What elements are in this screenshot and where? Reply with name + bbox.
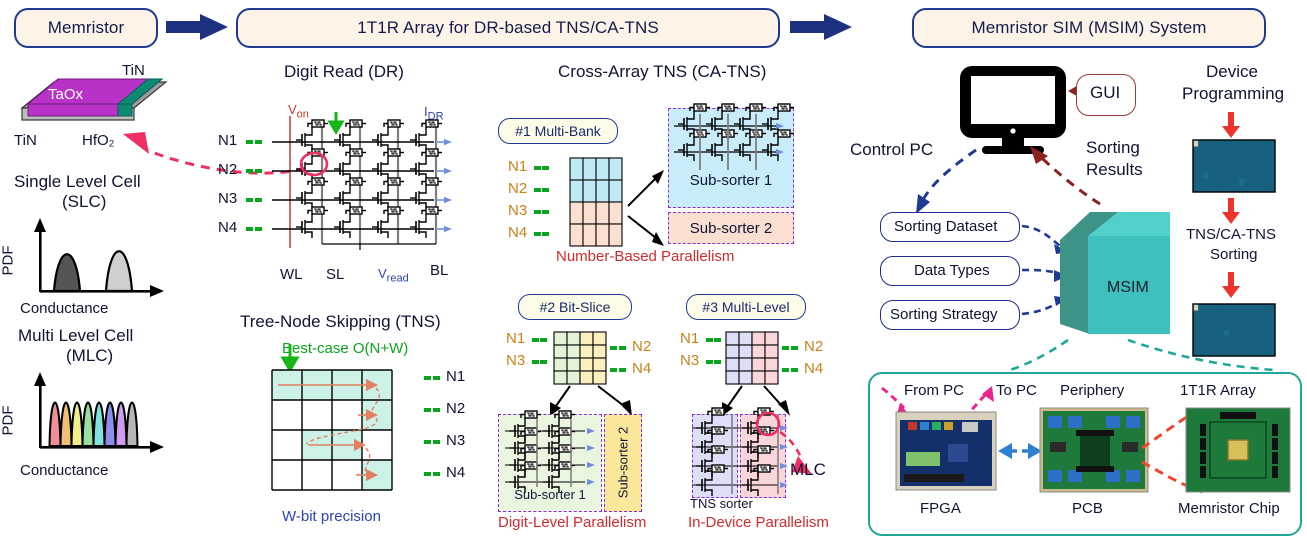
input-data-types-label: Data Types bbox=[914, 262, 990, 279]
ml-row-n4: N4 bbox=[804, 360, 823, 377]
svg-text:TaOx: TaOx bbox=[48, 86, 84, 103]
dash-marker bbox=[424, 440, 431, 444]
sub-sorter-1-panel-bitslice: Sub-sorter 1 bbox=[498, 414, 602, 512]
dash-marker bbox=[619, 368, 626, 372]
sub-sorter-2-label-multibank: Sub-sorter 2 bbox=[690, 220, 773, 237]
dash-marker bbox=[246, 140, 253, 144]
dash-marker bbox=[424, 408, 431, 412]
dash-marker bbox=[424, 472, 431, 476]
dash-marker bbox=[542, 166, 549, 170]
dash-marker bbox=[714, 338, 721, 342]
monitor-icon bbox=[958, 64, 1068, 154]
dr-title: Digit Read (DR) bbox=[284, 62, 404, 82]
multibank-grid bbox=[568, 156, 624, 248]
mlc-xlabel: Conductance bbox=[20, 462, 108, 479]
mb-row-n2: N2 bbox=[508, 180, 527, 197]
mlc-chart bbox=[18, 366, 178, 466]
dash-marker bbox=[246, 227, 253, 231]
dash-marker bbox=[610, 346, 617, 350]
mlc-ylabel: PDF bbox=[0, 406, 17, 436]
bitslice-footer: Digit-Level Parallelism bbox=[498, 514, 646, 531]
mlc-callout-label: MLC bbox=[790, 460, 826, 480]
dash-marker bbox=[433, 472, 440, 476]
fpga-photo bbox=[896, 412, 996, 490]
tag-bit-slice[interactable]: #2 Bit-Slice bbox=[518, 294, 632, 320]
dash-marker bbox=[532, 338, 539, 342]
dash-marker bbox=[255, 198, 262, 202]
dash-marker bbox=[542, 188, 549, 192]
dash-marker bbox=[255, 140, 262, 144]
input-sorting-dataset-label: Sorting Dataset bbox=[894, 218, 997, 235]
periphery-label: Periphery bbox=[1060, 382, 1124, 399]
header-pill-msim: Memristor SIM (MSIM) System bbox=[912, 8, 1266, 48]
dr-label-wl: WL bbox=[280, 266, 303, 283]
fpga-caption: FPGA bbox=[920, 500, 961, 517]
dr-label-sl: SL bbox=[326, 266, 344, 283]
tns-bestcase-label: Best-case O(N+W) bbox=[282, 340, 408, 357]
sub-sorter-2-panel-bitslice: Sub-sorter 2 bbox=[604, 414, 642, 512]
mb-row-n1: N1 bbox=[508, 158, 527, 175]
dash-marker bbox=[706, 360, 713, 364]
slc-title-line2: (SLC) bbox=[62, 192, 106, 212]
tns-title: Tree-Node Skipping (TNS) bbox=[240, 312, 441, 332]
bs-row-n3: N3 bbox=[506, 352, 525, 369]
tag-multi-bank[interactable]: #1 Multi-Bank bbox=[498, 118, 618, 144]
multilevel-grid bbox=[724, 330, 780, 386]
tns-grid bbox=[258, 360, 418, 492]
tns-row-label-n4: N4 bbox=[446, 464, 465, 481]
dash-marker bbox=[706, 338, 713, 342]
dash-marker bbox=[534, 166, 541, 170]
header-right-label: Memristor SIM (MSIM) System bbox=[971, 18, 1206, 38]
ml-row-n1: N1 bbox=[680, 330, 699, 347]
tns-catns-sorting-line2: Sorting bbox=[1210, 246, 1258, 263]
programming-arrow-1 bbox=[1222, 112, 1240, 138]
dr-label-vread: Vread bbox=[378, 266, 409, 285]
dash-marker bbox=[782, 346, 789, 350]
dash-marker bbox=[255, 227, 262, 231]
dash-marker bbox=[246, 198, 253, 202]
arrow-middle-to-right bbox=[790, 14, 852, 40]
dash-marker bbox=[791, 368, 798, 372]
msim-to-pc-arrow bbox=[1022, 146, 1108, 210]
bs-row-n4: N4 bbox=[632, 360, 651, 377]
mlc-title-line1: Multi Level Cell bbox=[18, 326, 133, 346]
slc-chart bbox=[18, 212, 178, 308]
sub-sorter-2-panel-multibank: Sub-sorter 2 bbox=[668, 212, 794, 244]
mlc-title-line2: (MLC) bbox=[66, 346, 113, 366]
dash-marker bbox=[540, 360, 547, 364]
sub-sorter-1-label-bitslice: Sub-sorter 1 bbox=[499, 487, 601, 502]
multibank-split-arrows bbox=[626, 160, 670, 252]
sub-sorter-2-label-bitslice: Sub-sorter 2 bbox=[616, 423, 631, 503]
ml-row-n2: N2 bbox=[804, 338, 823, 355]
sub-sorter-1-label-multibank: Sub-sorter 1 bbox=[669, 172, 793, 189]
multilevel-footer: In-Device Parallelism bbox=[688, 514, 829, 531]
dr-label-bl: BL bbox=[430, 262, 448, 279]
mb-row-n4: N4 bbox=[508, 224, 527, 241]
tag-multi-level[interactable]: #3 Multi-Level bbox=[686, 294, 806, 320]
dash-marker bbox=[532, 360, 539, 364]
bs-row-n2: N2 bbox=[632, 338, 651, 355]
slc-xlabel: Conductance bbox=[20, 300, 108, 317]
dash-marker bbox=[540, 338, 547, 342]
unsorted-conductance-map bbox=[1193, 140, 1275, 192]
dash-marker bbox=[255, 169, 262, 173]
dr-row-label-n4: N4 bbox=[218, 219, 237, 236]
to-pc-label: To PC bbox=[996, 382, 1037, 399]
catns-title: Cross-Array TNS (CA-TNS) bbox=[558, 62, 766, 82]
dr-row-label-n3: N3 bbox=[218, 190, 237, 207]
device-label-tin-bottom: TiN bbox=[14, 132, 37, 149]
memristor-chip-caption: Memristor Chip bbox=[1178, 500, 1280, 517]
tns-catns-sorting-line1: TNS/CA-TNS bbox=[1186, 226, 1276, 243]
dash-marker bbox=[534, 210, 541, 214]
svg-text:MSIM: MSIM bbox=[1107, 279, 1149, 296]
dr-row-label-n2: N2 bbox=[218, 161, 237, 178]
header-pill-1t1r: 1T1R Array for DR-based TNS/CA-TNS bbox=[236, 8, 780, 48]
tns-sorter-label: TNS sorter bbox=[690, 496, 753, 511]
dash-marker bbox=[610, 368, 617, 372]
dash-marker bbox=[433, 408, 440, 412]
ml-row-n3: N3 bbox=[680, 352, 699, 369]
dash-marker bbox=[542, 232, 549, 236]
pcb-fpga-link-arrow bbox=[998, 440, 1042, 462]
dash-marker bbox=[619, 346, 626, 350]
header-middle-label: 1T1R Array for DR-based TNS/CA-TNS bbox=[357, 18, 659, 38]
arrow-left-to-middle bbox=[166, 14, 228, 40]
dash-marker bbox=[542, 210, 549, 214]
multibank-footer: Number-Based Parallelism bbox=[556, 248, 734, 265]
input-sorting-strategy-label: Sorting Strategy bbox=[890, 306, 998, 323]
device-programming-line2: Programming bbox=[1182, 84, 1284, 104]
sub-sorter-1-panel-multibank: Sub-sorter 1 bbox=[668, 108, 794, 208]
dr-array-schematic bbox=[252, 120, 452, 260]
gui-label: GUI bbox=[1090, 83, 1120, 103]
header-pill-memristor: Memristor bbox=[14, 8, 158, 48]
programming-arrow-2 bbox=[1222, 198, 1240, 224]
device-label-tin-top: TiN bbox=[122, 62, 145, 79]
pcb-photo bbox=[1040, 408, 1148, 492]
tns-row-label-n3: N3 bbox=[446, 432, 465, 449]
pc-to-inputs-arrow bbox=[900, 150, 980, 220]
tns-row-label-n2: N2 bbox=[446, 400, 465, 417]
bitslice-grid bbox=[552, 330, 608, 386]
tns-footer: W-bit precision bbox=[282, 508, 381, 525]
dash-marker bbox=[791, 346, 798, 350]
msim-to-hardware-connector bbox=[1008, 336, 1278, 380]
dash-marker bbox=[433, 376, 440, 380]
1t1r-array-label: 1T1R Array bbox=[1180, 382, 1256, 399]
dash-marker bbox=[246, 169, 253, 173]
dash-marker bbox=[433, 440, 440, 444]
dash-marker bbox=[714, 360, 721, 364]
memristor-chip-photo bbox=[1186, 408, 1290, 492]
tns-row-label-n1: N1 bbox=[446, 368, 465, 385]
dash-marker bbox=[782, 368, 789, 372]
dr-von-label: Von bbox=[288, 102, 309, 121]
mb-row-n3: N3 bbox=[508, 202, 527, 219]
dr-row-label-n1: N1 bbox=[218, 132, 237, 149]
slc-title-line1: Single Level Cell bbox=[14, 172, 141, 192]
dash-marker bbox=[534, 188, 541, 192]
msim-box: MSIM bbox=[1058, 202, 1174, 342]
device-programming-line1: Device bbox=[1206, 62, 1258, 82]
slc-ylabel: PDF bbox=[0, 246, 17, 276]
dash-marker bbox=[424, 376, 431, 380]
bs-row-n1: N1 bbox=[506, 330, 525, 347]
programming-arrow-3 bbox=[1222, 272, 1240, 298]
dash-marker bbox=[534, 232, 541, 236]
header-left-label: Memristor bbox=[48, 18, 124, 38]
pcb-caption: PCB bbox=[1072, 500, 1103, 517]
